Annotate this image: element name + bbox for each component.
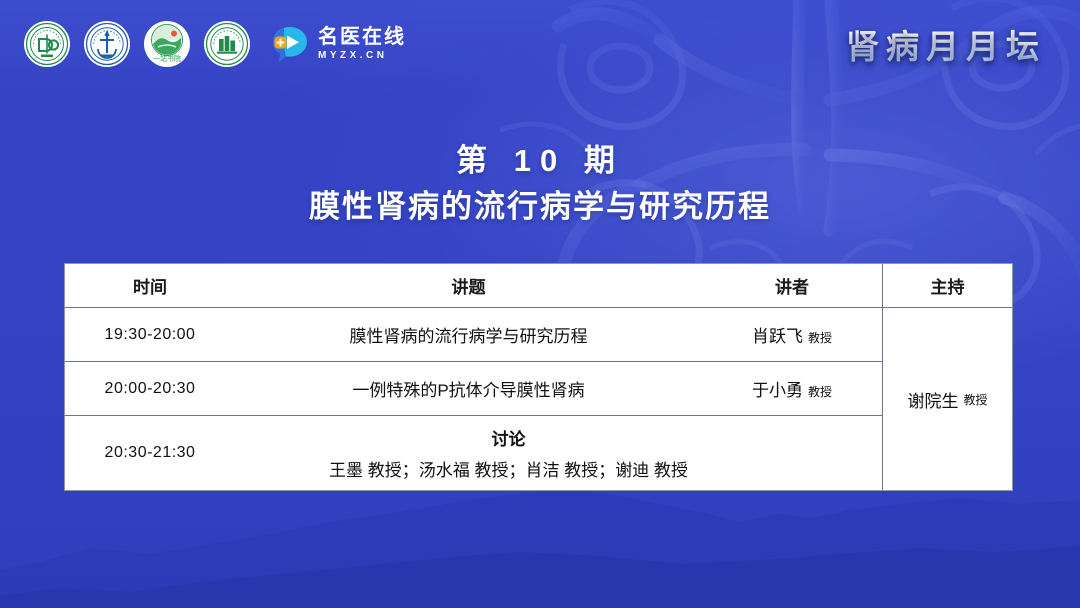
green-landscape-academy-logo: 一站书院: [144, 21, 190, 67]
table-row: 20:00-20:30 一例特殊的P抗体介导膜性肾病 于小勇教授: [65, 362, 882, 416]
host-rank: 教授: [963, 391, 987, 408]
row-time: 19:30-20:00: [65, 326, 235, 344]
schedule-header-row: 时间 讲题 讲者: [65, 264, 882, 308]
host-name: 谢院生: [907, 387, 958, 412]
row-topic: 一例特殊的P抗体介导膜性肾病: [235, 376, 702, 401]
title-block: 第 10 期 膜性肾病的流行病学与研究历程: [0, 142, 1080, 227]
session-main-title: 膜性肾病的流行病学与研究历程: [0, 187, 1080, 227]
discussion-block: 讨论 王墨 教授；汤水福 教授；肖洁 教授；谢迪 教授: [235, 425, 882, 481]
myzx-chinese-label: 名医在线: [318, 27, 406, 47]
schedule-table: 时间 讲题 讲者 19:30-20:00 膜性肾病的流行病学与研究历程 肖跃飞教…: [64, 263, 1013, 491]
speaker-name: 于小勇: [752, 381, 803, 400]
row-topic: 膜性肾病的流行病学与研究历程: [235, 322, 702, 347]
green-building-emblem-logo: [204, 21, 250, 67]
schedule-host-column: 主持 谢院生教授: [883, 264, 1012, 490]
column-header-speaker: 讲者: [702, 273, 882, 298]
row-speaker: 肖跃飞教授: [702, 322, 882, 347]
brand-title: 肾病月月坛: [846, 20, 1080, 68]
row-time: 20:30-21:30: [65, 444, 235, 462]
svg-text:一站书院: 一站书院: [153, 54, 181, 63]
row-time: 20:00-20:30: [65, 380, 235, 398]
column-header-topic: 讲题: [235, 273, 702, 298]
mountain-silhouette-decoration: [0, 478, 1080, 608]
host-cell: 谢院生教授: [883, 308, 1012, 490]
schedule-main-columns: 时间 讲题 讲者 19:30-20:00 膜性肾病的流行病学与研究历程 肖跃飞教…: [65, 264, 883, 490]
presentation-slide: 一站书院: [0, 0, 1080, 608]
speaker-rank: 教授: [808, 331, 832, 345]
blue-circular-emblem-logo: [84, 21, 130, 67]
green-circular-emblem-logo: [24, 21, 70, 67]
column-header-host: 主持: [883, 264, 1012, 308]
column-header-time: 时间: [65, 273, 235, 298]
discussion-title: 讨论: [235, 425, 782, 450]
speaker-name: 肖跃飞: [752, 327, 803, 346]
myzx-english-label: MYZX.CN: [318, 51, 406, 61]
slide-header: 一站书院: [0, 0, 1080, 88]
issue-number-title: 第 10 期: [0, 142, 1080, 181]
table-row: 19:30-20:00 膜性肾病的流行病学与研究历程 肖跃飞教授: [65, 308, 882, 362]
myzx-brand-logo: 名医在线 MYZX.CN: [270, 24, 406, 64]
row-speaker: 于小勇教授: [702, 376, 882, 401]
myzx-play-bubble-icon: [270, 24, 310, 64]
myzx-text-block: 名医在线 MYZX.CN: [318, 27, 406, 61]
partner-logo-strip: 一站书院: [0, 21, 406, 67]
table-row: 20:30-21:30 讨论 王墨 教授；汤水福 教授；肖洁 教授；谢迪 教授: [65, 416, 882, 490]
discussion-participants: 王墨 教授；汤水福 教授；肖洁 教授；谢迪 教授: [235, 456, 782, 481]
speaker-rank: 教授: [808, 385, 832, 399]
